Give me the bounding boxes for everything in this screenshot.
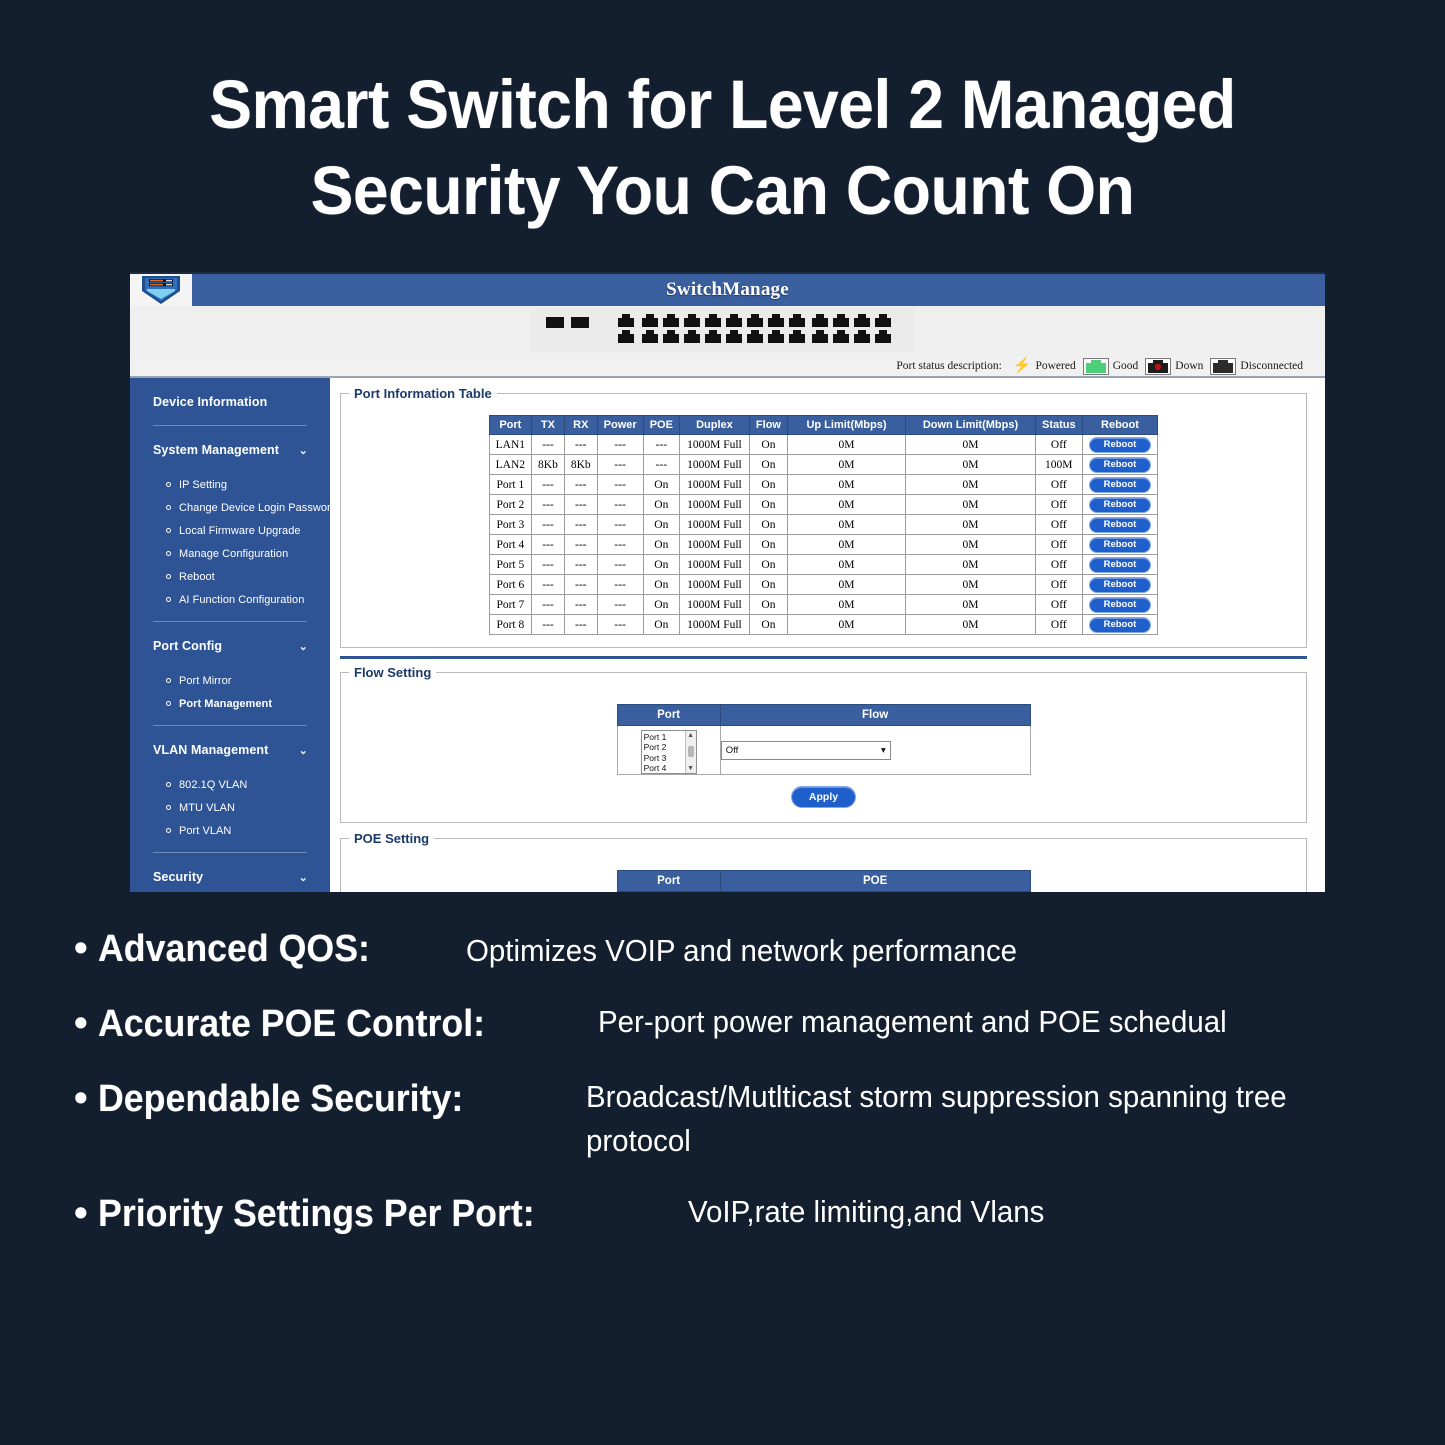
cell-power: --- [597,595,643,615]
sidebar-group-label: Security [153,870,203,884]
flow-port-option[interactable]: Port 4 [644,763,683,774]
sidebar-item-reboot[interactable]: Reboot [144,565,316,588]
port-information-table-panel: Port Information Table Port TX RX Power … [340,386,1307,648]
cell-down-limit: 0M [905,575,1035,595]
port-status-legend: Port status description: ⚡ Powered Good … [130,356,1325,378]
lightning-bolt-icon: ⚡ [1013,359,1032,374]
legend-item-disconnected: Disconnected [1210,358,1303,375]
table-row: Port 7 --- --- --- On 1000M Full On 0M 0… [489,595,1158,615]
cell-power: --- [597,475,643,495]
cell-power: --- [597,495,643,515]
flow-port-scrollbar[interactable]: ▲ ▼ [685,731,696,773]
reboot-button[interactable]: Reboot [1089,597,1152,613]
cell-reboot: Reboot [1082,595,1158,615]
table-row: Port 2 --- --- --- On 1000M Full On 0M 0… [489,495,1158,515]
sidebar-group-system-management: System Management ⌄ IP Setting Change De… [130,426,330,622]
bullet-icon: • [74,1190,88,1238]
cell-reboot: Reboot [1082,475,1158,495]
cell-rx: --- [564,535,597,555]
feature-description: Optimizes VOIP and network performance [466,929,1017,973]
cell-rx: --- [564,595,597,615]
sidebar-group-label: System Management [153,443,279,457]
feature-description: Per-port power management and POE schedu… [598,1000,1227,1044]
hero-title-line-2: Security You Can Count On [51,148,1395,234]
app-title: SwitchManage [666,279,789,301]
cell-duplex: 1000M Full [679,515,749,535]
cell-down-limit: 0M [905,455,1035,475]
table-row: Port 8 --- --- --- On 1000M Full On 0M 0… [489,615,1158,635]
cell-port: LAN2 [489,455,531,475]
main-content: Port Information Table Port TX RX Power … [330,378,1325,892]
sidebar-item-local-firmware-upgrade[interactable]: Local Firmware Upgrade [144,519,316,542]
cell-up-limit: 0M [787,615,905,635]
bullet-dot-icon [166,828,171,833]
reboot-button[interactable]: Reboot [1089,557,1152,573]
flow-port-options: Port 1 Port 2 Port 3 Port 4 [642,731,685,773]
col-flow: Flow [720,705,1030,726]
poe-setting-legend: POE Setting [349,831,434,846]
col-status: Status [1035,416,1082,435]
sidebar-group-label: VLAN Management [153,743,268,757]
sidebar-item-label: MTU VLAN [179,802,235,814]
table-row: Port 1 Port 2 Port 3 ▲ ▼ [617,892,1030,893]
cell-duplex: 1000M Full [679,475,749,495]
table-row: LAN2 8Kb 8Kb --- --- 1000M Full On 0M 0M… [489,455,1158,475]
cell-power: --- [597,455,643,475]
sidebar-item-802-1q-vlan[interactable]: 802.1Q VLAN [144,773,316,796]
reboot-button[interactable]: Reboot [1089,517,1152,533]
cell-port: Port 5 [489,555,531,575]
cell-port: Port 3 [489,515,531,535]
bullet-dot-icon [166,574,171,579]
scroll-up-arrow-icon[interactable]: ▲ [687,732,694,739]
cell-up-limit: 0M [787,535,905,555]
reboot-button[interactable]: Reboot [1089,457,1152,473]
flow-value-selected: Off [726,745,739,756]
legend-text-powered: Powered [1035,360,1075,372]
flow-port-option[interactable]: Port 2 [644,742,683,753]
cell-port: Port 4 [489,535,531,555]
sidebar-item-label: Local Firmware Upgrade [179,525,301,537]
hero-title-line-1: Smart Switch for Level 2 Managed [51,62,1395,148]
col-flow: Flow [749,416,787,435]
poe-setting-table: Port POE Port 1 Port 2 [617,870,1031,892]
cell-up-limit: 0M [787,435,905,455]
cell-poe: On [643,555,679,575]
cell-poe: On [643,535,679,555]
bullet-dot-icon [166,505,171,510]
bullet-icon: • [74,1000,88,1048]
cell-tx: --- [532,595,565,615]
switch-ports-graphic [530,308,915,352]
app-body: Device Information System Management ⌄ I… [130,378,1325,892]
table-row: Port 5 --- --- --- On 1000M Full On 0M 0… [489,555,1158,575]
feature-description: Broadcast/Mutlticast storm suppression s… [586,1075,1335,1163]
flow-port-listbox[interactable]: Port 1 Port 2 Port 3 Port 4 ▲ [641,730,697,774]
cell-duplex: 1000M Full [679,435,749,455]
bullet-dot-icon [166,551,171,556]
feature-term: Advanced QOS: [98,925,444,973]
cell-flow: On [749,435,787,455]
cell-up-limit: 0M [787,455,905,475]
table-row: Port 4 --- --- --- On 1000M Full On 0M 0… [489,535,1158,555]
cell-rx: --- [564,615,597,635]
col-rx: RX [564,416,597,435]
chevron-down-icon[interactable]: ▾ [881,745,886,756]
legend-item-down: Down [1145,358,1203,375]
sidebar-item-label: Port VLAN [179,825,231,837]
legend-text-down: Down [1175,360,1203,372]
cell-poe: On [643,475,679,495]
col-port: Port [617,871,720,892]
cell-reboot: Reboot [1082,495,1158,515]
cell-flow: On [749,595,787,615]
cell-down-limit: 0M [905,535,1035,555]
sidebar-item-ai-function-configuration[interactable]: AI Function Configuration [144,588,316,611]
cell-port-select: Port 1 Port 2 Port 3 Port 4 ▲ [617,726,720,775]
bullet-dot-icon [166,701,171,706]
switch-management-window: SwitchManage [130,272,1325,892]
sidebar-item-port-management[interactable]: Port Management [144,692,316,715]
cell-tx: --- [532,495,565,515]
table-row: Port 6 --- --- --- On 1000M Full On 0M 0… [489,575,1158,595]
sidebar-group-port-config: Port Config ⌄ Port Mirror Port Managemen… [130,622,330,726]
hero-title: Smart Switch for Level 2 Managed Securit… [0,0,1445,234]
table-row: Port 3 --- --- --- On 1000M Full On 0M 0… [489,515,1158,535]
cell-reboot: Reboot [1082,515,1158,535]
cell-tx: --- [532,555,565,575]
cell-power: --- [597,515,643,535]
bullet-dot-icon [166,528,171,533]
cell-reboot: Reboot [1082,455,1158,475]
rj45-port-green-icon [1083,358,1109,375]
feature-item-accurate-poe-control: • Accurate POE Control: Per-port power m… [74,1000,1374,1048]
sidebar-item-ip-setting[interactable]: IP Setting [144,473,316,496]
cell-status: 100M [1035,455,1082,475]
sidebar-item-manage-configuration[interactable]: Manage Configuration [144,542,316,565]
cell-down-limit: 0M [905,435,1035,455]
cell-duplex: 1000M Full [679,495,749,515]
cell-flow: On [749,615,787,635]
cell-down-limit: 0M [905,475,1035,495]
cell-duplex: 1000M Full [679,555,749,575]
cell-status: Off [1035,495,1082,515]
feature-term: Dependable Security: [98,1075,557,1123]
cell-rx: --- [564,495,597,515]
col-port: Port [617,705,720,726]
cell-port: LAN1 [489,435,531,455]
cell-reboot: Reboot [1082,555,1158,575]
flow-port-option[interactable]: Port 1 [644,732,683,743]
port-information-table: Port TX RX Power POE Duplex Flow Up Limi… [489,415,1159,635]
cell-status: Off [1035,435,1082,455]
bullet-icon: • [74,1075,88,1123]
flow-port-option[interactable]: Port 3 [644,753,683,764]
bullet-dot-icon [166,805,171,810]
sidebar-sublist: Port Mirror Port Management [144,669,316,725]
scroll-down-arrow-icon[interactable]: ▼ [687,765,694,772]
sidebar-item-port-config[interactable]: Port Config ⌄ [144,622,316,669]
cell-poe: On [643,515,679,535]
sidebar-sublist: IP Setting Change Device Login Password … [144,473,316,621]
cell-rx: 8Kb [564,455,597,475]
cell-rx: --- [564,475,597,495]
reboot-button[interactable]: Reboot [1089,437,1152,453]
table-header-row: Port TX RX Power POE Duplex Flow Up Limi… [489,416,1158,435]
col-power: Power [597,416,643,435]
cell-flow: On [749,575,787,595]
legend-text-good: Good [1113,360,1139,372]
cell-poe: On [643,495,679,515]
cell-tx: --- [532,515,565,535]
col-port: Port [489,416,531,435]
col-poe: POE [643,416,679,435]
cell-power: --- [597,535,643,555]
switch-device-illustration [530,308,915,352]
table-header-row: Port POE [617,871,1030,892]
col-tx: TX [532,416,565,435]
cell-down-limit: 0M [905,555,1035,575]
flow-setting-table: Port Flow Port 1 Port 2 [617,704,1031,775]
section-divider [340,656,1307,659]
reboot-button[interactable]: Reboot [1089,577,1152,593]
cell-port: Port 6 [489,575,531,595]
sidebar-item-mtu-vlan[interactable]: MTU VLAN [144,796,316,819]
col-up-limit: Up Limit(Mbps) [787,416,905,435]
bullet-dot-icon [166,597,171,602]
chevron-down-icon[interactable]: ⌄ [299,744,308,757]
cell-duplex: 1000M Full [679,535,749,555]
cell-duplex: 1000M Full [679,455,749,475]
logo-tab [130,272,192,308]
cell-rx: --- [564,575,597,595]
cell-tx: --- [532,475,565,495]
sidebar-item-label: IP Setting [179,479,227,491]
cell-rx: --- [564,435,597,455]
sidebar-item-label: Reboot [179,571,215,583]
cell-tx: --- [532,435,565,455]
sidebar-item-change-device-login-password[interactable]: Change Device Login Password [144,496,316,519]
cell-poe: On [643,595,679,615]
cell-port-select: Port 1 Port 2 Port 3 ▲ ▼ [617,892,720,893]
cell-power: --- [597,615,643,635]
window-titlebar: SwitchManage [130,274,1325,306]
cell-flow: On [749,555,787,575]
sidebar-group-device-information: Device Information [130,378,330,426]
sidebar-group-label: Device Information [153,395,267,409]
chevron-down-icon[interactable]: ⌄ [299,640,308,653]
flow-value-dropdown[interactable]: Off ▾ [721,741,891,760]
cell-tx: 8Kb [532,455,565,475]
sidebar-item-device-information[interactable]: Device Information [144,378,316,425]
sidebar-group-label: Port Config [153,639,222,653]
feature-list: • Advanced QOS: Optimizes VOIP and netwo… [74,925,1374,1265]
sidebar-item-label: Port Management [179,698,272,710]
sidebar-item-label: Change Device Login Password [179,502,330,514]
cell-duplex: 1000M Full [679,615,749,635]
sidebar-item-port-vlan[interactable]: Port VLAN [144,819,316,842]
bullet-dot-icon [166,678,171,683]
sidebar-item-label: AI Function Configuration [179,594,304,606]
shield-server-logo-icon [140,275,182,305]
col-reboot: Reboot [1082,416,1158,435]
cell-reboot: Reboot [1082,575,1158,595]
cell-flow: On [749,515,787,535]
legend-item-powered: ⚡ Powered [1013,359,1076,374]
feature-term: Priority Settings Per Port: [98,1190,653,1238]
sidebar-sublist: 802.1Q VLAN MTU VLAN Port VLAN [144,773,316,852]
sidebar-group-vlan-management: VLAN Management ⌄ 802.1Q VLAN MTU VLAN P… [130,726,330,853]
sidebar-item-label: 802.1Q VLAN [179,779,247,791]
cell-port: Port 7 [489,595,531,615]
cell-status: Off [1035,535,1082,555]
cell-status: Off [1035,515,1082,535]
flow-setting-legend: Flow Setting [349,665,436,680]
flow-setting-panel: Flow Setting Port Flow [340,665,1307,823]
cell-tx: --- [532,575,565,595]
cell-power: --- [597,555,643,575]
legend-label: Port status description: [896,360,1001,372]
cell-poe: On [643,615,679,635]
feature-item-advanced-qos: • Advanced QOS: Optimizes VOIP and netwo… [74,925,1374,973]
table-header-row: Port Flow [617,705,1030,726]
cell-poe: --- [643,455,679,475]
cell-down-limit: 0M [905,595,1035,615]
cell-flow: On [749,455,787,475]
bullet-icon: • [74,925,88,973]
navigation-sidebar: Device Information System Management ⌄ I… [130,378,330,892]
cell-flow: On [749,535,787,555]
cell-poe: --- [643,435,679,455]
cell-rx: --- [564,515,597,535]
table-row: LAN1 --- --- --- --- 1000M Full On 0M 0M… [489,435,1158,455]
chevron-down-icon[interactable]: ⌄ [299,871,308,884]
reboot-button[interactable]: Reboot [1089,537,1152,553]
cell-up-limit: 0M [787,555,905,575]
sidebar-item-system-management[interactable]: System Management ⌄ [144,426,316,473]
cell-up-limit: 0M [787,475,905,495]
cell-duplex: 1000M Full [679,575,749,595]
cell-tx: --- [532,615,565,635]
reboot-button[interactable]: Reboot [1089,477,1152,493]
cell-down-limit: 0M [905,495,1035,515]
cell-status: Off [1035,475,1082,495]
cell-down-limit: 0M [905,615,1035,635]
port-information-table-legend: Port Information Table [349,386,497,401]
cell-flow: On [749,495,787,515]
cell-down-limit: 0M [905,515,1035,535]
cell-up-limit: 0M [787,595,905,615]
col-duplex: Duplex [679,416,749,435]
sidebar-item-vlan-management[interactable]: VLAN Management ⌄ [144,726,316,773]
sidebar-item-label: Port Mirror [179,675,232,687]
cell-power: --- [597,575,643,595]
cell-reboot: Reboot [1082,435,1158,455]
rj45-port-red-icon [1145,358,1171,375]
sidebar-item-port-mirror[interactable]: Port Mirror [144,669,316,692]
cell-port: Port 8 [489,615,531,635]
feature-item-priority-settings-per-port: • Priority Settings Per Port: VoIP,rate … [74,1190,1374,1238]
cell-duplex: 1000M Full [679,595,749,615]
device-front-panel [130,306,1325,356]
feature-item-dependable-security: • Dependable Security: Broadcast/Mutltic… [74,1075,1374,1163]
cell-port: Port 1 [489,475,531,495]
legend-item-good: Good [1083,358,1139,375]
sidebar-item-security[interactable]: Security ⌄ [144,853,316,892]
cell-status: Off [1035,595,1082,615]
poe-setting-panel: POE Setting Port POE [340,831,1307,892]
cell-status: Off [1035,575,1082,595]
sidebar-item-label: Manage Configuration [179,548,288,560]
cell-rx: --- [564,555,597,575]
cell-power: --- [597,435,643,455]
cell-reboot: Reboot [1082,535,1158,555]
chevron-down-icon[interactable]: ⌄ [299,444,308,457]
cell-reboot: Reboot [1082,615,1158,635]
bullet-dot-icon [166,482,171,487]
table-row: Port 1 Port 2 Port 3 Port 4 ▲ [617,726,1030,775]
cell-status: Off [1035,555,1082,575]
legend-text-disconnected: Disconnected [1240,360,1303,372]
cell-poe-select: Off ▾ [720,892,1030,893]
cell-up-limit: 0M [787,575,905,595]
cell-flow-select: Off ▾ [720,726,1030,775]
col-down-limit: Down Limit(Mbps) [905,416,1035,435]
cell-port: Port 2 [489,495,531,515]
apply-button[interactable]: Apply [791,786,856,808]
scrollbar-thumb[interactable] [688,746,694,757]
reboot-button[interactable]: Reboot [1089,497,1152,513]
cell-up-limit: 0M [787,495,905,515]
cell-tx: --- [532,535,565,555]
rj45-port-black-icon [1210,358,1236,375]
col-poe: POE [720,871,1030,892]
cell-status: Off [1035,615,1082,635]
bullet-dot-icon [166,782,171,787]
cell-poe: On [643,575,679,595]
reboot-button[interactable]: Reboot [1089,617,1152,633]
feature-description: VoIP,rate limiting,and Vlans [688,1190,1044,1234]
port-table-body: LAN1 --- --- --- --- 1000M Full On 0M 0M… [489,435,1158,635]
sidebar-group-security: Security ⌄ Storm Control Power Supply Ad… [130,853,330,892]
table-row: Port 1 --- --- --- On 1000M Full On 0M 0… [489,475,1158,495]
cell-up-limit: 0M [787,515,905,535]
cell-flow: On [749,475,787,495]
feature-term: Accurate POE Control: [98,1000,568,1048]
